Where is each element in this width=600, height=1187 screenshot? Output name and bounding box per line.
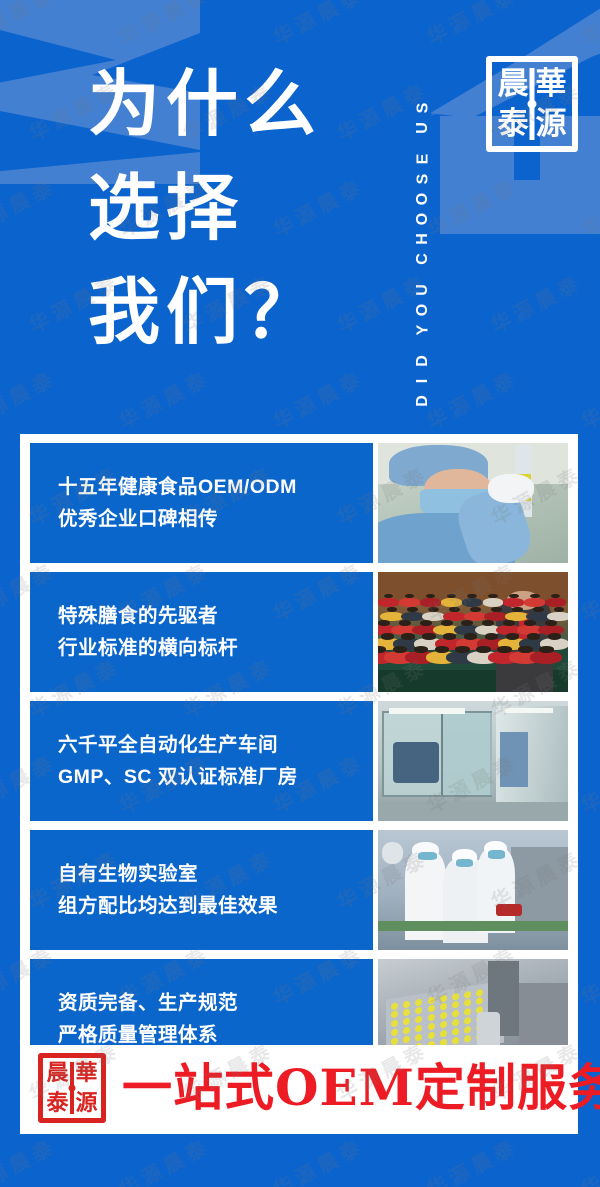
audience-head bbox=[420, 620, 432, 626]
feature-card-line-1: 特殊膳食的先驱者 bbox=[58, 600, 365, 632]
audience-head bbox=[399, 620, 411, 626]
feature-card[interactable]: 特殊膳食的先驱者 行业标准的横向标杆 bbox=[30, 572, 568, 692]
tablet-pill bbox=[464, 990, 471, 998]
feature-card-text: 十五年健康食品OEM/ODM 优秀企业口碑相传 bbox=[30, 443, 373, 563]
tablet-pill bbox=[440, 1029, 447, 1037]
tablet-pill bbox=[452, 992, 459, 1000]
watermark-text: 华源晨泰 bbox=[575, 554, 600, 627]
banner-seal-char-2: 華 bbox=[75, 1062, 97, 1084]
tablet-pill bbox=[416, 1007, 423, 1015]
tablet-pill bbox=[440, 1003, 447, 1011]
tablet-pill bbox=[416, 1033, 423, 1041]
tablet-pill bbox=[392, 1037, 399, 1045]
audience-head bbox=[545, 620, 557, 626]
page-title: 为什么 选择 我们？ bbox=[88, 52, 388, 364]
tablet-pill bbox=[392, 1010, 399, 1018]
vertical-tagline-letter: S bbox=[413, 103, 431, 114]
tablet-pill bbox=[404, 1000, 411, 1008]
audience-head bbox=[461, 620, 473, 626]
feature-card-photo bbox=[378, 830, 568, 950]
audience-head bbox=[548, 633, 561, 639]
tablet-pill bbox=[428, 1005, 435, 1013]
vertical-tagline-letter: O bbox=[413, 213, 431, 225]
seal-char-2: 華 bbox=[536, 69, 567, 100]
audience-head bbox=[506, 633, 519, 639]
watermark-text: 华源晨泰 bbox=[575, 1130, 600, 1187]
audience-head bbox=[482, 620, 494, 626]
content-panel: 十五年健康食品OEM/ODM 优秀企业口碑相传 bbox=[20, 434, 578, 1134]
seal-char-3: 泰 bbox=[498, 109, 529, 140]
tablet-pill bbox=[464, 1025, 471, 1033]
feature-card-line-1: 自有生物实验室 bbox=[58, 858, 365, 890]
tablet-pill bbox=[404, 1026, 411, 1034]
vertical-tagline-letter: I bbox=[413, 379, 431, 383]
banner-slogan: 一站式OEM定制服务 bbox=[122, 1060, 600, 1116]
audience-head bbox=[449, 607, 460, 612]
audience-head bbox=[509, 594, 518, 598]
vertical-tagline-letter: U bbox=[413, 122, 431, 134]
feature-card[interactable]: 自有生物实验室 组方配比均达到最佳效果 bbox=[30, 830, 568, 950]
bottom-banner: 晨 華 泰 源 一站式OEM定制服务 bbox=[20, 1045, 578, 1131]
tablet-pill bbox=[464, 1034, 471, 1042]
tablet-pill bbox=[416, 998, 423, 1006]
banner-seal-char-3: 泰 bbox=[46, 1092, 68, 1114]
tablet-pill bbox=[428, 996, 435, 1004]
watermark-text: 华源晨泰 bbox=[0, 1130, 61, 1187]
audience-head bbox=[405, 594, 414, 598]
banner-seal-char-1: 晨 bbox=[46, 1062, 68, 1084]
tablet-pill bbox=[464, 1008, 471, 1016]
audience-person bbox=[530, 651, 562, 664]
watermark-text: 华源晨泰 bbox=[113, 1130, 215, 1187]
audience-head bbox=[539, 646, 554, 653]
tablet-pill bbox=[392, 1028, 399, 1036]
company-seal-logo: 晨 華 泰 源 bbox=[486, 56, 578, 152]
tablet-pill bbox=[440, 1020, 447, 1028]
watermark-text: 华源晨泰 bbox=[575, 746, 600, 819]
tablet-pill bbox=[404, 1017, 411, 1025]
audience-head bbox=[387, 607, 398, 612]
tablet-pill bbox=[392, 1002, 399, 1010]
audience-person bbox=[378, 598, 399, 606]
feature-card-line-1: 十五年健康食品OEM/ODM bbox=[58, 471, 365, 503]
feature-card-line-2: 组方配比均达到最佳效果 bbox=[58, 890, 365, 922]
audience-head bbox=[422, 633, 435, 639]
seal-center-dot bbox=[528, 100, 537, 109]
audience-head bbox=[470, 607, 481, 612]
header: 为什么 选择 我们？ DIDYOUCHOOSEUS 晨 華 泰 源 bbox=[0, 0, 600, 440]
banner-seal-char-4: 源 bbox=[75, 1092, 97, 1114]
feature-card-line-2: GMP、SC 双认证标准厂房 bbox=[58, 761, 365, 793]
tablet-pill bbox=[452, 1027, 459, 1035]
vertical-tagline-letter: D bbox=[413, 395, 431, 407]
audience-head bbox=[518, 646, 533, 653]
audience-head bbox=[554, 607, 565, 612]
title-line-2: 选择 bbox=[88, 156, 388, 260]
feature-card-text: 自有生物实验室 组方配比均达到最佳效果 bbox=[30, 830, 373, 950]
audience-head bbox=[527, 633, 540, 639]
tablet-pill bbox=[428, 1031, 435, 1039]
feature-card-line-2: 行业标准的横向标杆 bbox=[58, 632, 365, 664]
audience-head bbox=[497, 646, 512, 653]
audience-person bbox=[545, 598, 566, 606]
audience-head bbox=[384, 594, 393, 598]
vertical-tagline-letter: H bbox=[413, 233, 431, 245]
feature-card-line-1: 六千平全自动化生产车间 bbox=[58, 729, 365, 761]
audience-head bbox=[381, 633, 394, 639]
watermark-text: 华源晨泰 bbox=[575, 938, 600, 1011]
audience-head bbox=[407, 607, 418, 612]
tablet-pill bbox=[452, 1018, 459, 1026]
tablet-pill bbox=[440, 994, 447, 1002]
vertical-tagline-letter: E bbox=[413, 154, 431, 165]
audience-head bbox=[488, 594, 497, 598]
tablet-pill bbox=[404, 1008, 411, 1016]
tablet-pill bbox=[464, 1016, 471, 1024]
tablet-pill bbox=[416, 1024, 423, 1032]
audience-person bbox=[524, 598, 545, 606]
vertical-tagline-letter: Y bbox=[413, 325, 431, 336]
tablet-pill bbox=[440, 1011, 447, 1019]
audience-person bbox=[462, 598, 483, 606]
feature-card-photo bbox=[378, 572, 568, 692]
watermark-text: 华源晨泰 bbox=[421, 1130, 523, 1187]
audience-head bbox=[378, 620, 390, 626]
vertical-tagline-letter: C bbox=[413, 253, 431, 265]
title-line-1: 为什么 bbox=[88, 52, 388, 156]
tablet-pill bbox=[392, 1019, 399, 1027]
banner-seal-logo: 晨 華 泰 源 bbox=[38, 1053, 106, 1123]
banner-seal-center-dot bbox=[69, 1085, 76, 1092]
audience-head bbox=[464, 633, 477, 639]
feature-card-list: 十五年健康食品OEM/ODM 优秀企业口碑相传 bbox=[30, 443, 568, 1088]
tablet-pill bbox=[428, 1022, 435, 1030]
title-line-3: 我们？ bbox=[88, 260, 388, 364]
vertical-tagline-letter: U bbox=[413, 284, 431, 296]
seal-char-1: 晨 bbox=[498, 69, 529, 100]
tablet-pill bbox=[476, 988, 483, 996]
feature-card[interactable]: 十五年健康食品OEM/ODM 优秀企业口碑相传 bbox=[30, 443, 568, 563]
audience-head bbox=[491, 607, 502, 612]
feature-card-text: 六千平全自动化生产车间 GMP、SC 双认证标准厂房 bbox=[30, 701, 373, 821]
tablet-pill bbox=[464, 999, 471, 1007]
feature-card-text: 特殊膳食的先驱者 行业标准的横向标杆 bbox=[30, 572, 373, 692]
feature-card-line-1: 资质完备、生产规范 bbox=[58, 987, 365, 1019]
audience-person bbox=[420, 598, 441, 606]
tablet-pill bbox=[404, 1035, 411, 1043]
tablet-pill bbox=[416, 1015, 423, 1023]
tablet-pill bbox=[428, 1013, 435, 1021]
audience-head bbox=[441, 620, 453, 626]
tablet-pill bbox=[476, 997, 483, 1005]
audience-head bbox=[512, 607, 523, 612]
audience-person bbox=[483, 598, 504, 606]
audience-head bbox=[524, 620, 536, 626]
feature-card[interactable]: 六千平全自动化生产车间 GMP、SC 双认证标准厂房 bbox=[30, 701, 568, 821]
audience-head bbox=[443, 633, 456, 639]
vertical-tagline-letter: S bbox=[413, 174, 431, 185]
audience-head bbox=[533, 607, 544, 612]
seal-char-4: 源 bbox=[536, 109, 567, 140]
audience-person bbox=[399, 598, 420, 606]
audience-person bbox=[503, 598, 524, 606]
audience-head bbox=[485, 633, 498, 639]
audience-head bbox=[426, 594, 435, 598]
vertical-tagline-letter: D bbox=[413, 355, 431, 367]
audience-head bbox=[503, 620, 515, 626]
vertical-tagline-letter: O bbox=[413, 304, 431, 316]
audience-head bbox=[428, 607, 439, 612]
tablet-pill bbox=[452, 1010, 459, 1018]
feature-card-photo bbox=[378, 443, 568, 563]
audience-head bbox=[447, 594, 456, 598]
poster-root: 为什么 选择 我们？ DIDYOUCHOOSEUS 晨 華 泰 源 十五年健康食… bbox=[0, 0, 600, 1187]
watermark-text: 华源晨泰 bbox=[267, 1130, 369, 1187]
audience-head bbox=[530, 594, 539, 598]
audience-person bbox=[441, 598, 462, 606]
watermark-row: 华源晨泰华源晨泰华源晨泰华源晨泰华源晨泰 bbox=[0, 1152, 600, 1181]
feature-card-line-2: 优秀企业口碑相传 bbox=[58, 503, 365, 535]
feature-card-photo bbox=[378, 701, 568, 821]
vertical-tagline-letter: O bbox=[413, 193, 431, 205]
tablet-pill bbox=[452, 1036, 459, 1044]
tablet-pill bbox=[452, 1001, 459, 1009]
audience-head bbox=[401, 633, 414, 639]
audience-head bbox=[467, 594, 476, 598]
vertical-tagline: DIDYOUCHOOSEUS bbox=[400, 20, 444, 410]
